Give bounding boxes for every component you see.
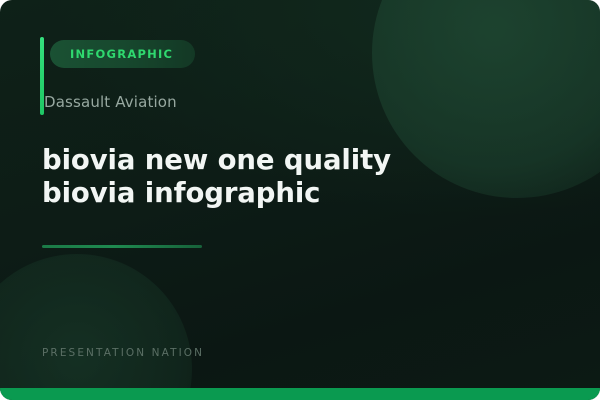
category-badge-label: INFOGRAPHIC [70, 47, 173, 61]
slide-content: INFOGRAPHIC Dassault Aviation biovia new… [40, 0, 560, 400]
page-title: biovia new one quality biovia infographi… [42, 144, 482, 210]
slide-subtitle: Dassault Aviation [44, 93, 177, 111]
category-badge: INFOGRAPHIC [50, 40, 195, 68]
bottom-accent-bar [0, 388, 600, 400]
title-divider [42, 245, 202, 248]
footer-brand: PRESENTATION NATION [42, 347, 204, 359]
infographic-slide: INFOGRAPHIC Dassault Aviation biovia new… [0, 0, 600, 400]
